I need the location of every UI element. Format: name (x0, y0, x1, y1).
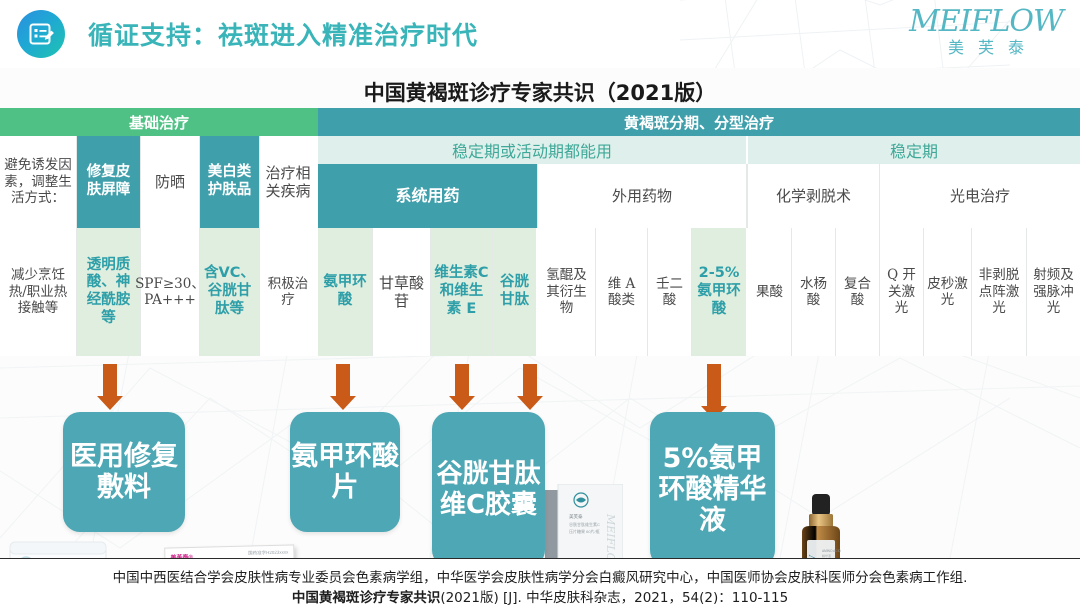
svg-text:谷胱甘肽维生素C: 谷胱甘肽维生素C (569, 521, 600, 527)
detail-cell-compound-acid: 复合酸 (836, 228, 880, 356)
serum-bottle-image: MEIFLOW AMINO ACID 精华液 5 % 氨甲环酸 TRANEXAM… (790, 492, 852, 558)
consensus-table: 基础治疗 黄褐斑分期、分型治疗 稳定期或活动期都能用 稳定期 避免诱发因素，调整… (0, 108, 1080, 356)
slide-header: 循证支持：祛斑进入精准治疗时代 MEIFLOW 美芙泰 (0, 0, 1080, 68)
group-header-avoid-triggers: 避免诱发因素，调整生活方式： (0, 136, 77, 228)
detail-cell-fruit-acid: 果酸 (748, 228, 792, 356)
header-icon-badge (17, 10, 65, 58)
detail-cell-vc-glutathione: 含VC、谷胱甘肽等 (200, 228, 260, 356)
product-box-glutathione-capsule[interactable]: 谷胱甘肽维C胶囊 (432, 412, 545, 558)
citation-title: 中国黄褐斑诊疗专家共识 (292, 590, 441, 606)
svg-text:压片糖果 60片/瓶: 压片糖果 60片/瓶 (569, 528, 600, 534)
detail-cell-vitamin-c-e: 维生素C 和维生素 E (431, 228, 493, 356)
cream-jar-image: MEIFLOW (4, 528, 112, 558)
detail-cell-reduce-cooking-heat: 减少烹饪热/职业热接触等 (0, 228, 77, 356)
group-header-systemic-medication: 系统用药 (318, 164, 538, 228)
brand-logo-en: MEIFLOW (906, 6, 1066, 38)
detail-cell-azelaic-acid: 壬二酸 (648, 228, 692, 356)
group-header-sun-protection: 防晒 (141, 136, 200, 228)
detail-cell-q-switch-laser: Q 开关激光 (880, 228, 924, 356)
svg-text:美芙泰: 美芙泰 (569, 513, 583, 520)
svg-text:MEIFLOW: MEIFLOW (604, 513, 617, 558)
page-title: 循证支持：祛斑进入精准治疗时代 (88, 16, 478, 52)
citation-source: (2021版) [J]. 中华皮肤科杂志，2021，54(2)：110-115 (440, 590, 788, 606)
clipboard-edit-icon (28, 21, 54, 47)
brand-logo: MEIFLOW 美芙泰 (906, 6, 1066, 58)
product-box-repair-dressing[interactable]: 医用修复敷料 (63, 412, 185, 532)
group-header-chemical-peel: 化学剥脱术 (748, 164, 880, 228)
tablet-box-image: 美芙泰® 国药准字H2023xxxx 氨甲环酸片 TRANEXAMIC ACID… (164, 544, 296, 558)
band-basic-treatment: 基础治疗 (0, 108, 318, 136)
citation-footer: 中国中西医结合学会皮肤性病专业委员会色素病学组，中华医学会皮肤性病学分会白癜风研… (0, 558, 1080, 607)
capsule-carton-image: 美芙泰 谷胱甘肽维生素C 压片糖果 60片/瓶 MEIFLOW 保健食品不能代替… (545, 484, 623, 558)
citation-line-1: 中国中西医结合学会皮肤性病专业委员会色素病学组，中华医学会皮肤性病学分会白癜风研… (0, 566, 1080, 586)
detail-cell-salicylic-acid: 水杨酸 (792, 228, 836, 356)
detail-cell-picosecond-laser: 皮秒激光 (924, 228, 972, 356)
product-box-tranexamic-serum[interactable]: 5%氨甲环酸精华液 (650, 412, 775, 558)
detail-cell-spf30-pa: SPF≥30、PA+++ (141, 228, 200, 356)
group-header-photoelectric-therapy: 光电治疗 (880, 164, 1080, 228)
group-header-repair-barrier: 修复皮肤屏障 (77, 136, 141, 228)
detail-cell-nonablative-fractional-laser: 非剥脱点阵激光 (972, 228, 1027, 356)
detail-cell-hydroquinone: 氢醌及其衍生物 (538, 228, 596, 356)
group-header-treat-related-disease: 治疗相关疾病 (260, 136, 318, 228)
slide-body: 中国黄褐斑诊疗专家共识（2021版） 基础治疗 黄褐斑分期、分型治疗 稳定期或活… (0, 68, 1080, 558)
tablet-box-code: 国药准字H2023xxxx (248, 550, 288, 557)
svg-text:AMINO ACID: AMINO ACID (822, 549, 841, 553)
detail-cell-glutathione: 谷胱甘肽 (493, 228, 538, 356)
detail-cell-tranexamic-acid: 氨甲环酸 (318, 228, 373, 356)
detail-cell-glycyrrhizin: 甘草酸苷 (373, 228, 431, 356)
group-header-topical-medication: 外用药物 (538, 164, 748, 228)
citation-line-2: 中国黄褐斑诊疗专家共识(2021版) [J]. 中华皮肤科杂志，2021，54(… (0, 586, 1080, 606)
group-header-whitening-skincare: 美白类护肤品 (200, 136, 260, 228)
band-phase-stable: 稳定期 (748, 136, 1080, 164)
band-staging-treatment: 黄褐斑分期、分型治疗 (318, 108, 1080, 136)
table-title: 中国黄褐斑诊疗专家共识（2021版） (0, 77, 1080, 107)
detail-cell-hyaluronic-ceramide: 透明质酸、神经酰胺等 (77, 228, 141, 356)
detail-cell-retinoids: 维 A 酸类 (596, 228, 648, 356)
detail-cell-active-treatment: 积极治疗 (260, 228, 318, 356)
detail-cell-rf-ipl: 射频及强脉冲光 (1027, 228, 1080, 356)
detail-cell-tranexamic-2-5: 2-5%氨甲环酸 (692, 228, 748, 356)
product-box-tranexamic-tablets[interactable]: 氨甲环酸片 (290, 412, 400, 532)
band-phase-stable-or-active: 稳定期或活动期都能用 (318, 136, 748, 164)
brand-logo-cn: 美芙泰 (906, 38, 1066, 58)
